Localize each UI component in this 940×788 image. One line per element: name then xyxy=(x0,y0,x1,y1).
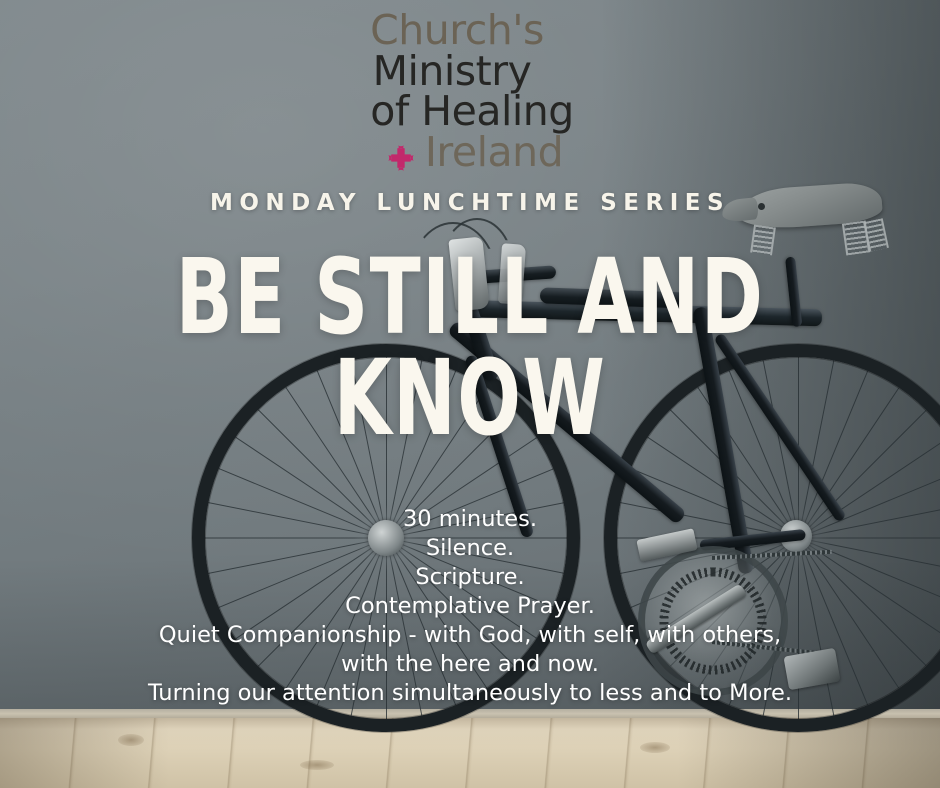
body-line-3: Scripture. xyxy=(0,563,940,592)
celtic-cross-icon xyxy=(387,138,415,166)
series-eyebrow: MONDAY LUNCHTIME SERIES xyxy=(0,190,940,216)
body-line-4: Contemplative Prayer. xyxy=(0,592,940,621)
body-line-1: 30 minutes. xyxy=(0,505,940,534)
body-line-5: Quiet Companionship - with God, with sel… xyxy=(0,621,940,650)
logo: Church's Ministry of Healing Ireland xyxy=(0,10,940,172)
logo-line-of-healing: of Healing xyxy=(4,91,940,132)
poster-content: Church's Ministry of Healing Ireland MON… xyxy=(0,0,940,788)
body-copy: 30 minutes. Silence. Scripture. Contempl… xyxy=(0,505,940,708)
poster: Church's Ministry of Healing Ireland MON… xyxy=(0,0,940,788)
logo-line-ministry: Ministry xyxy=(0,51,940,92)
logo-line-ireland-row: Ireland xyxy=(10,132,940,173)
headline-line-1: BE STILL AND xyxy=(132,247,809,348)
headline-line-2: KNOW xyxy=(132,348,809,449)
logo-line-ireland: Ireland xyxy=(425,132,563,173)
body-line-7: Turning our attention simultaneously to … xyxy=(0,679,940,708)
logo-line-churchs: Church's xyxy=(0,10,940,51)
body-line-2: Silence. xyxy=(0,534,940,563)
body-line-6: with the here and now. xyxy=(0,650,940,679)
headline: BE STILL AND KNOW xyxy=(132,247,809,449)
